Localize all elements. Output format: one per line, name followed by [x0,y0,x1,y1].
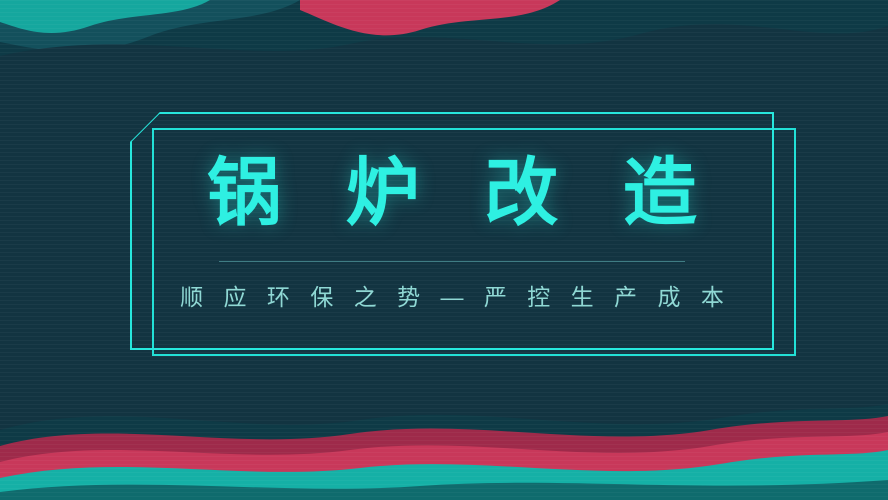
title-block: 锅 炉 改 造 顺 应 环 保 之 势 — 严 控 生 产 成 本 [130,112,774,350]
title-divider [219,261,685,262]
sub-title: 顺 应 环 保 之 势 — 严 控 生 产 成 本 [173,278,731,312]
main-title: 锅 炉 改 造 [185,150,719,235]
slide-canvas: 锅 炉 改 造 顺 应 环 保 之 势 — 严 控 生 产 成 本 [0,0,888,500]
